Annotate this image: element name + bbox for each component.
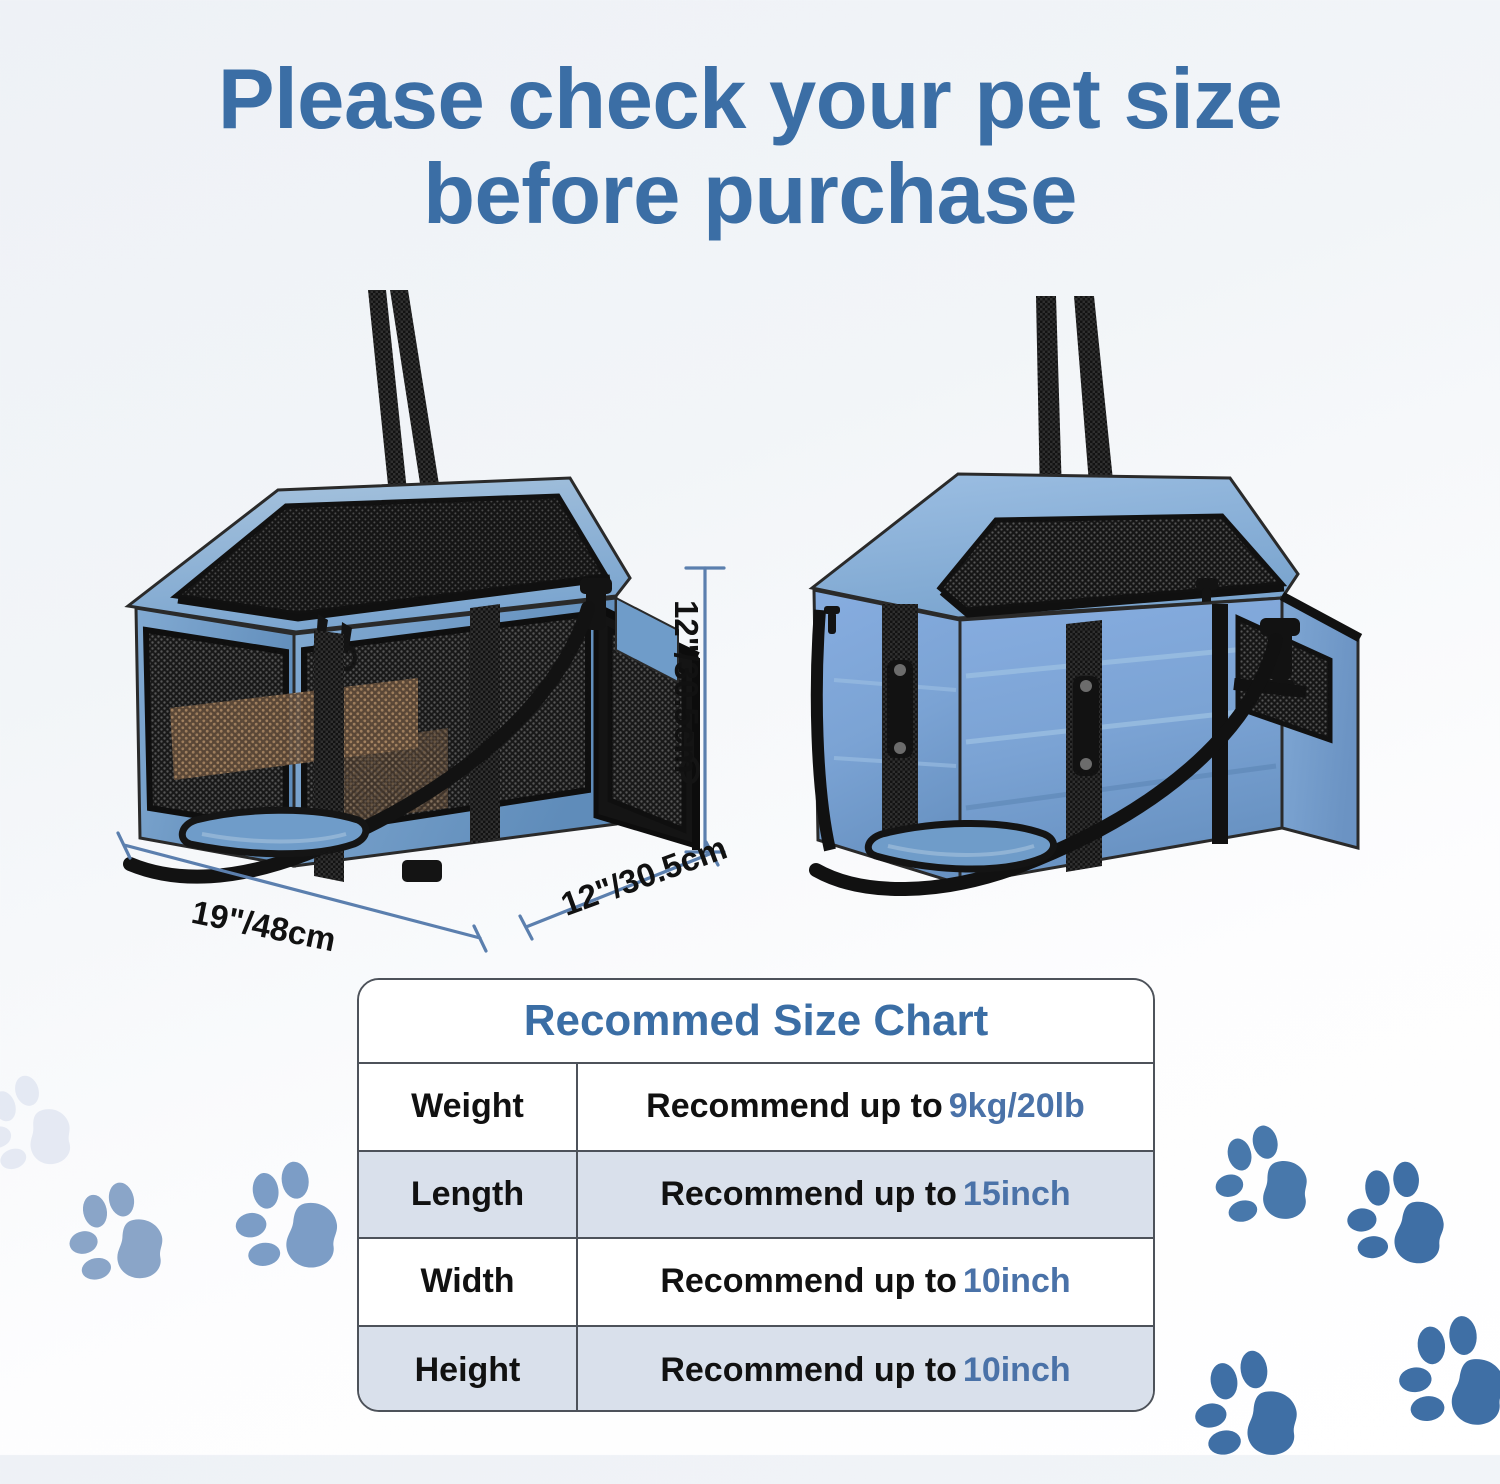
buckle-clip-icon	[1073, 676, 1099, 776]
row-highlight: 10inch	[963, 1351, 1071, 1390]
row-label-width: Width	[359, 1239, 578, 1325]
size-chart-table: Recommed Size Chart Weight Recommend up …	[357, 978, 1155, 1412]
carrier-closed-view	[790, 288, 1380, 903]
paw-print-icon	[1188, 1348, 1314, 1474]
page-title-line-2: before purchase	[0, 147, 1500, 242]
dimension-label-height: 12"/30.5cm	[667, 600, 705, 773]
buckle-clip-icon	[887, 660, 913, 758]
table-row: Height Recommend up to 10inch	[359, 1327, 1153, 1413]
table-row: Width Recommend up to 10inch	[359, 1239, 1153, 1327]
row-value-width: Recommend up to 10inch	[578, 1239, 1153, 1325]
carrier-mesh-illustration	[118, 278, 718, 898]
page-title-line-1: Please check your pet size	[0, 52, 1500, 147]
paw-print-icon	[1340, 1158, 1462, 1280]
shoulder-pad	[868, 823, 1053, 869]
row-label-length: Length	[359, 1152, 578, 1238]
row-highlight: 15inch	[963, 1175, 1071, 1214]
paw-print-icon	[1208, 1121, 1324, 1237]
paw-print-icon	[62, 1178, 180, 1296]
table-row: Weight Recommend up to 9kg/20lb	[359, 1064, 1153, 1152]
table-row: Length Recommend up to 15inch	[359, 1152, 1153, 1240]
dimension-label-length: 19"/48cm	[188, 893, 339, 959]
page-title: Please check your pet size before purcha…	[0, 52, 1500, 242]
row-label-height: Height	[359, 1327, 578, 1413]
carrier-mesh-view	[118, 278, 718, 898]
row-prefix: Recommend up to	[660, 1175, 957, 1214]
row-highlight: 10inch	[963, 1262, 1071, 1301]
row-prefix: Recommend up to	[660, 1351, 957, 1390]
infographic-canvas: Please check your pet size before purcha…	[0, 0, 1500, 1455]
row-value-length: Recommend up to 15inch	[578, 1152, 1153, 1238]
paw-print-icon	[1392, 1313, 1500, 1443]
shoulder-pad	[182, 810, 366, 854]
paw-print-icon	[0, 1072, 88, 1182]
row-prefix: Recommend up to	[660, 1262, 957, 1301]
row-highlight: 9kg/20lb	[949, 1087, 1085, 1126]
row-label-weight: Weight	[359, 1064, 578, 1150]
row-prefix: Recommend up to	[646, 1087, 943, 1126]
row-value-height: Recommend up to 10inch	[578, 1327, 1153, 1413]
paw-print-icon	[228, 1158, 356, 1286]
row-value-weight: Recommend up to 9kg/20lb	[578, 1064, 1153, 1150]
size-chart-title: Recommed Size Chart	[359, 980, 1153, 1064]
strap-slider-icon	[402, 860, 442, 882]
carrier-closed-illustration	[790, 288, 1380, 903]
